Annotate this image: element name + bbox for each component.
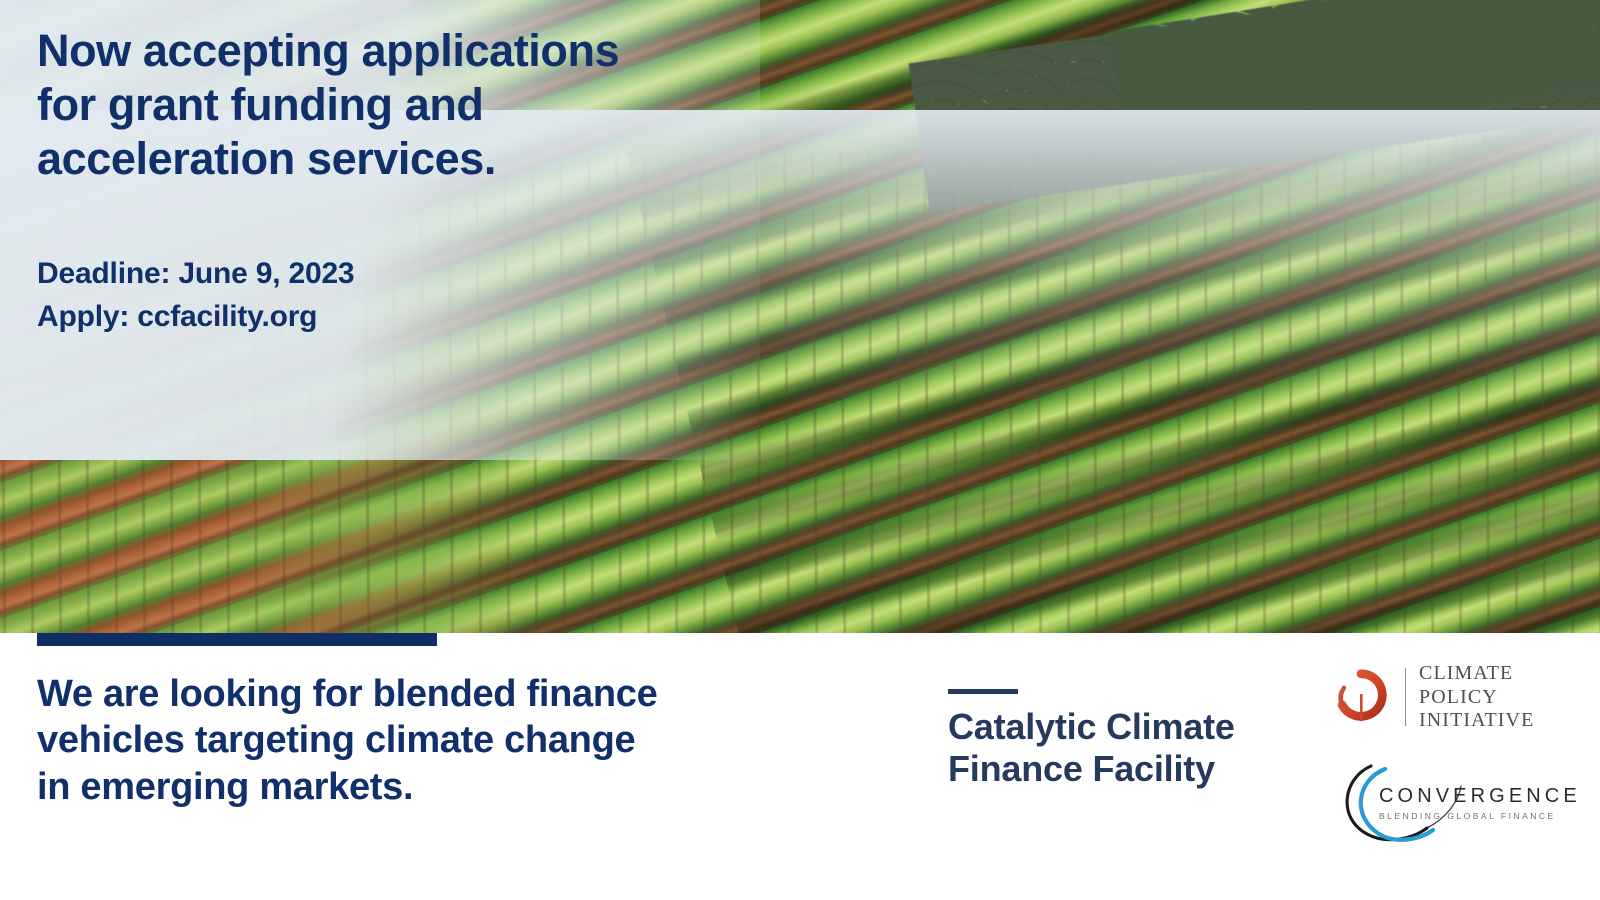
ccff-line-1: Catalytic Climate xyxy=(948,706,1235,748)
apply-url-text[interactable]: Apply: ccfacility.org xyxy=(37,296,354,339)
cpi-line-2: POLICY xyxy=(1419,686,1534,710)
convergence-name: CONVERGENCE xyxy=(1379,786,1581,806)
accent-bar xyxy=(37,633,437,646)
convergence-wordmark: CONVERGENCE BLENDING GLOBAL FINANCE xyxy=(1379,786,1581,821)
tagline: We are looking for blended finance vehic… xyxy=(37,671,737,810)
cpi-ring-icon xyxy=(1330,666,1392,728)
cpi-line-3: INITIATIVE xyxy=(1419,709,1534,733)
deadline-text: Deadline: June 9, 2023 xyxy=(37,253,354,296)
convergence-logo[interactable]: CONVERGENCE BLENDING GLOBAL FINANCE xyxy=(1323,756,1523,844)
application-details: Deadline: June 9, 2023 Apply: ccfacility… xyxy=(37,253,354,338)
cpi-divider xyxy=(1405,668,1406,726)
climate-policy-initiative-logo[interactable]: CLIMATE POLICY INITIATIVE xyxy=(1330,662,1534,733)
page-title: Now accepting applications for grant fun… xyxy=(37,24,737,186)
convergence-tagline: BLENDING GLOBAL FINANCE xyxy=(1379,812,1581,821)
headline-line-1: Now accepting applications xyxy=(37,24,737,78)
tagline-line-1: We are looking for blended finance xyxy=(37,671,737,717)
hero-photo: Now accepting applications for grant fun… xyxy=(0,0,1600,633)
headline-line-2: for grant funding and xyxy=(37,78,737,132)
vine-stakes xyxy=(0,117,1600,633)
ccff-wordmark: Catalytic Climate Finance Facility xyxy=(948,706,1235,790)
ccff-logo[interactable]: Catalytic Climate Finance Facility xyxy=(948,689,1235,790)
headline-line-3: acceleration services. xyxy=(37,132,737,186)
cpi-wordmark: CLIMATE POLICY INITIATIVE xyxy=(1419,662,1534,733)
tagline-line-3: in emerging markets. xyxy=(37,764,737,810)
ccff-rule xyxy=(948,689,1018,694)
campaign-banner: Now accepting applications for grant fun… xyxy=(0,0,1600,900)
cpi-line-1: CLIMATE xyxy=(1419,662,1534,686)
tagline-line-2: vehicles targeting climate change xyxy=(37,717,737,763)
ccff-line-2: Finance Facility xyxy=(948,748,1235,790)
